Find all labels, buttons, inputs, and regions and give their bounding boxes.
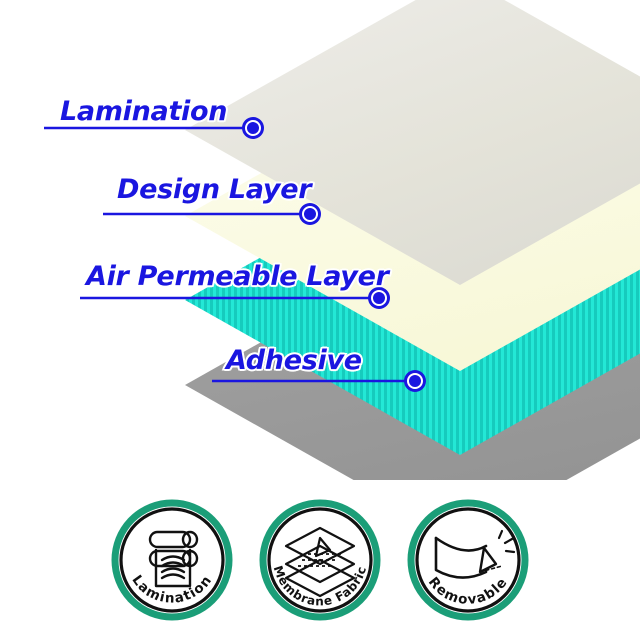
callout-marker-dot [373, 292, 385, 304]
callout-leaders [0, 0, 640, 480]
feature-badge-removable[interactable]: Removable [406, 498, 530, 622]
callout-marker-dot [409, 375, 421, 387]
layer-label-design-layer: Design Layer [117, 174, 311, 205]
callout-marker-dot [304, 208, 316, 220]
layer-label-lamination: Lamination [60, 96, 227, 127]
layer-label-adhesive: Adhesive [226, 345, 362, 376]
feature-badge-lamination[interactable]: Lamination [110, 498, 234, 622]
product-layer-infographic: Lamination Design Layer Air Permeable La… [0, 0, 640, 640]
feature-badge-membrane-fabric[interactable]: Membrane Fabric [258, 498, 382, 622]
callout-design-layer[interactable] [103, 203, 321, 225]
layer-label-air-permeable-layer: Air Permeable Layer [86, 261, 389, 292]
feature-badge-row: Lamination [0, 480, 640, 640]
callout-marker-dot [247, 122, 259, 134]
